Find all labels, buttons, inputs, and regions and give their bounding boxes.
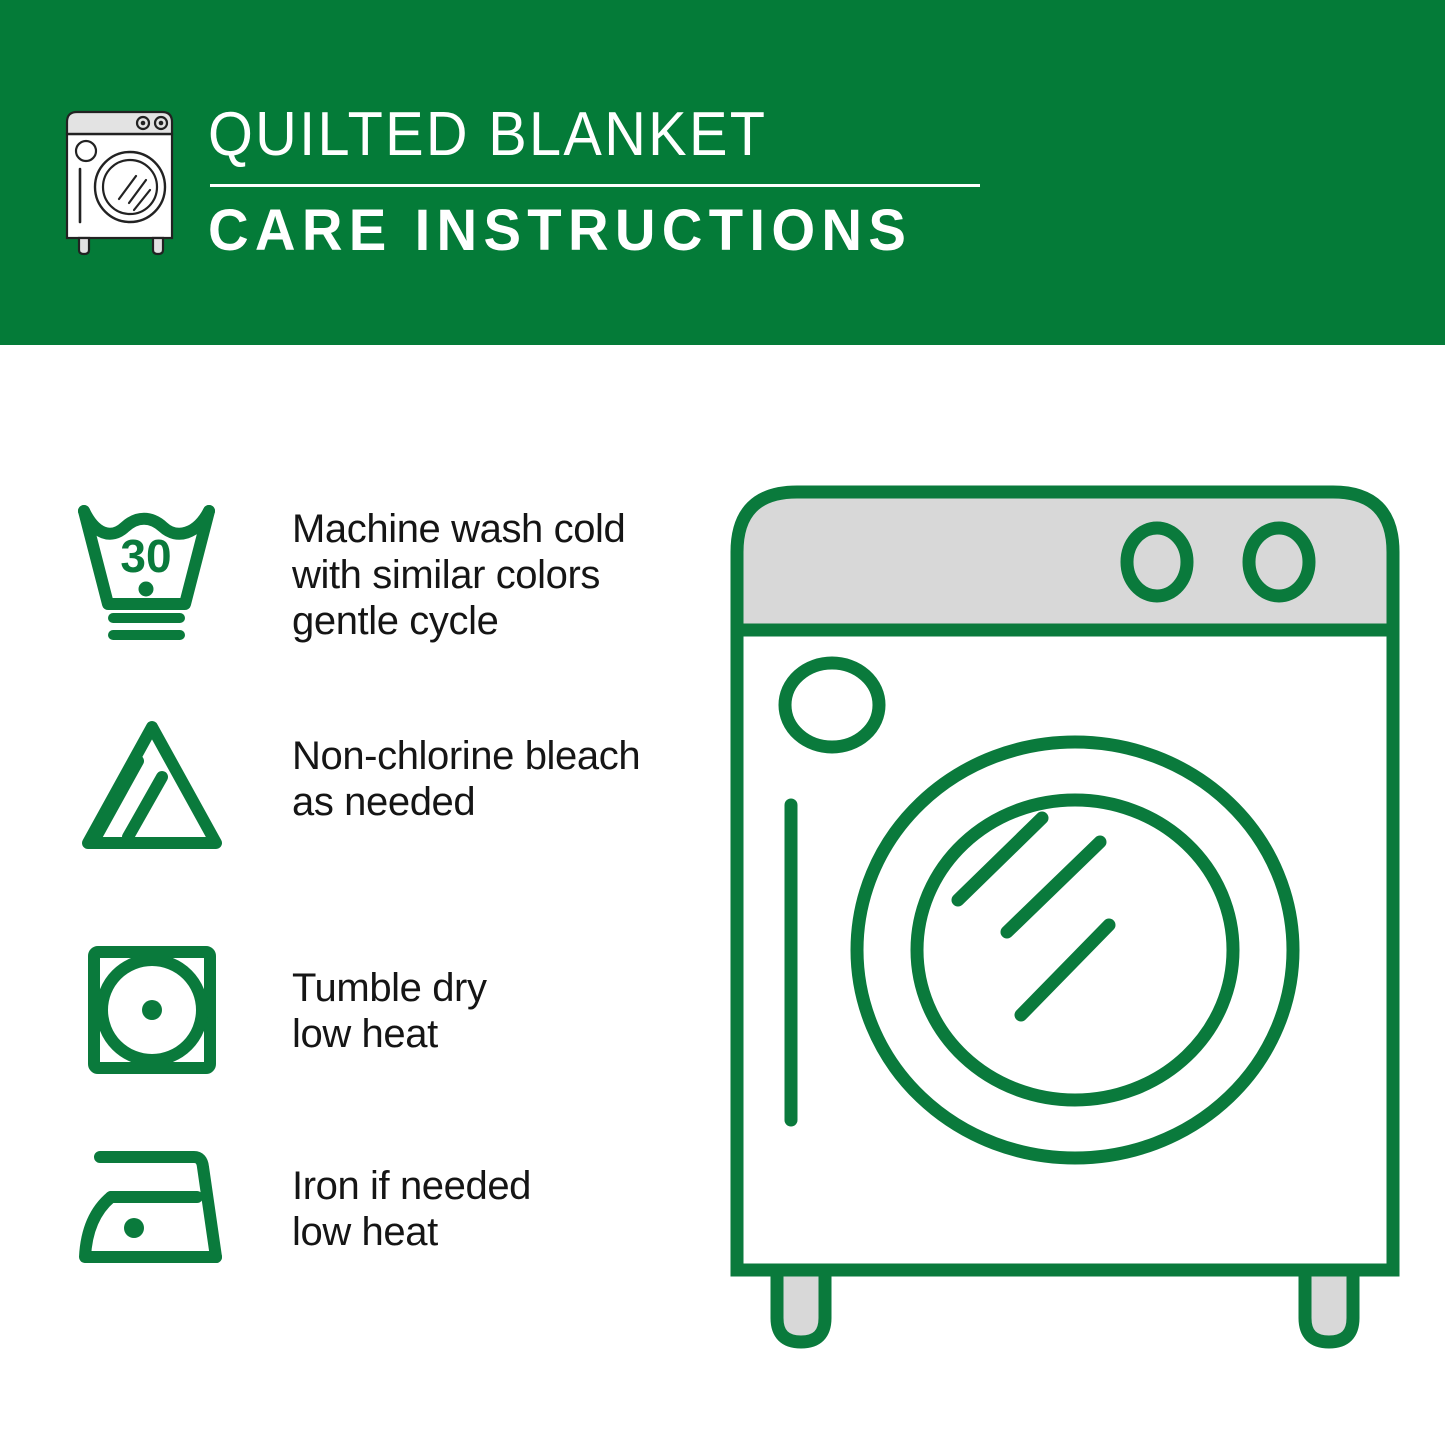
control-knob-1[interactable] [1127,528,1187,596]
care-text-tumble-dry: Tumble dry low heat [292,965,487,1057]
machine-leg-left [777,1270,825,1342]
header-title-block: QUILTED BLANKET CARE INSTRUCTIONS [208,98,980,263]
care-row-machine-wash: 30 Machine wash cold with similar colors… [72,500,625,644]
detergent-drawer-icon [785,663,879,747]
iron-low-heat-dot [124,1218,144,1238]
control-knob-2[interactable] [1249,528,1309,596]
care-text-machine-wash: Machine wash cold with similar colors ge… [292,506,625,644]
header-content: QUILTED BLANKET CARE INSTRUCTIONS [62,98,980,263]
wash-temperature-label: 30 [120,530,171,582]
title-divider [210,184,980,187]
care-text-iron: Iron if needed low heat [292,1163,531,1255]
page-title: QUILTED BLANKET [208,100,926,170]
washing-machine-illustration [715,470,1415,1370]
header-band: QUILTED BLANKET CARE INSTRUCTIONS [0,0,1445,345]
wash-gentle-dot [138,582,153,597]
machine-leg-right [1305,1270,1353,1342]
care-symbol-slot [72,943,232,1077]
tumble-dry-low-heat-dot [142,1000,162,1020]
gentle-bar-1 [108,613,185,623]
care-row-bleach: Non-chlorine bleach as needed [72,715,640,855]
care-symbol-slot: 30 [72,500,232,643]
bleach-triangle-icon [76,715,228,855]
care-row-iron: Iron if needed low heat [72,1145,531,1271]
tumble-dry-icon [85,943,219,1077]
care-symbol-slot [72,715,232,855]
care-text-bleach: Non-chlorine bleach as needed [292,733,640,825]
washing-machine-logo-icon [62,104,180,256]
page-subtitle: CARE INSTRUCTIONS [208,199,957,263]
care-symbol-slot [72,1145,232,1271]
wash-basin-icon: 30 [75,500,230,643]
drum-inner-ring [917,800,1233,1100]
gentle-bar-2 [108,630,185,640]
iron-icon [76,1145,228,1271]
care-instructions-list: 30 Machine wash cold with similar colors… [0,345,700,1445]
care-row-tumble-dry: Tumble dry low heat [72,943,487,1077]
